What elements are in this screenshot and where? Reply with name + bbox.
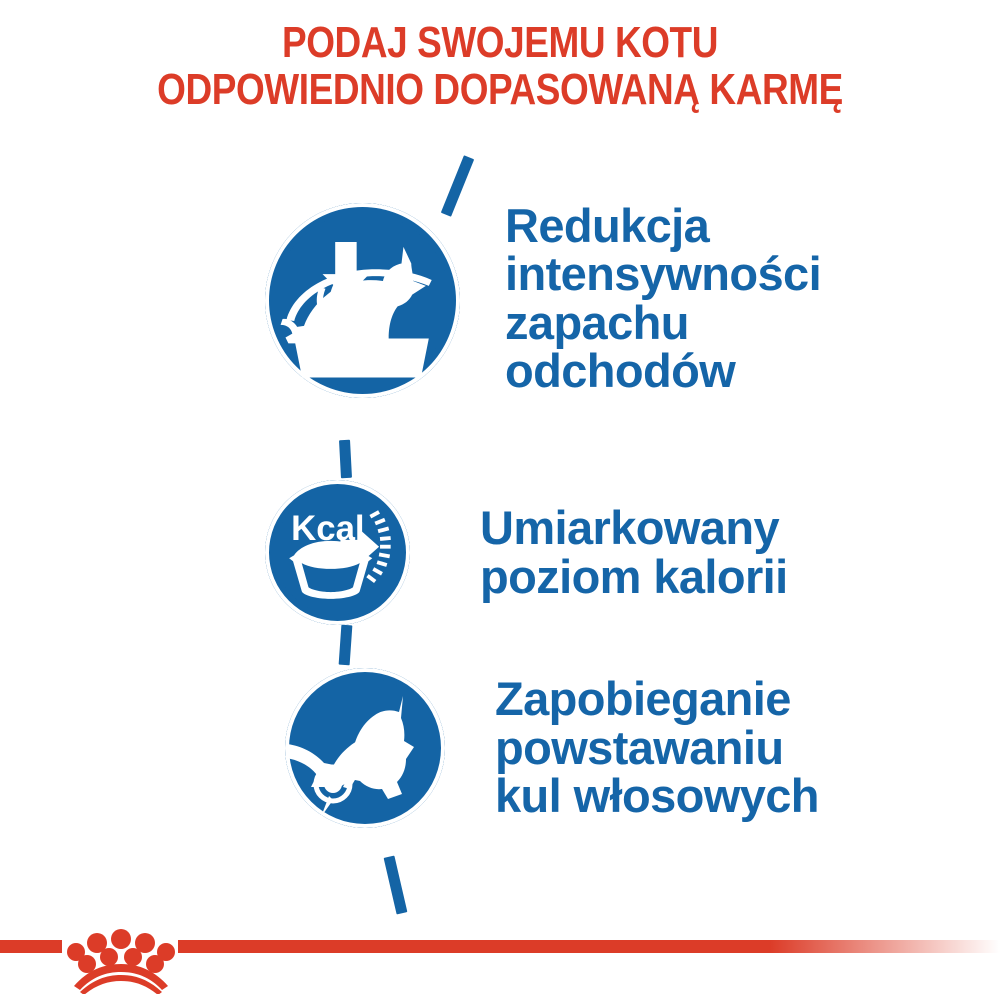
page-title: PODAJ SWOJEMU KOTU ODPOWIEDNIO DOPASOWAN… bbox=[80, 20, 920, 113]
benefit-item-calories: Kcal bbox=[265, 480, 788, 625]
benefit-label-odor: Redukcja intensywności zapachu odchodów bbox=[505, 202, 821, 396]
connector-dash-2-3 bbox=[339, 625, 353, 666]
footer-rule-right bbox=[178, 940, 1000, 953]
headline-line-1: PODAJ SWOJEMU KOTU bbox=[80, 20, 920, 67]
royal-canin-crown-logo bbox=[66, 926, 176, 994]
footer-rule-left bbox=[0, 940, 62, 953]
promo-panel: PODAJ SWOJEMU KOTU ODPOWIEDNIO DOPASOWAN… bbox=[0, 0, 1000, 1000]
connector-dash-1-2 bbox=[339, 440, 352, 479]
benefit-label-calories: Umiarkowany poziom kalorii bbox=[480, 504, 788, 601]
cat-hairball-prevention-icon bbox=[285, 668, 445, 828]
footer bbox=[0, 926, 1000, 1000]
connector-dash-bottom bbox=[384, 856, 408, 915]
kcal-food-bowl-gauge-icon: Kcal bbox=[265, 480, 410, 625]
cat-litter-box-odor-reduction-icon bbox=[265, 203, 460, 398]
benefit-item-odor: Redukcja intensywności zapachu odchodów bbox=[265, 203, 821, 398]
benefit-label-hairball: Zapobieganie powstawaniu kul włosowych bbox=[495, 675, 819, 820]
benefit-item-hairball: Zapobieganie powstawaniu kul włosowych bbox=[285, 668, 819, 828]
headline-line-2: ODPOWIEDNIO DOPASOWANĄ KARMĘ bbox=[80, 67, 920, 114]
